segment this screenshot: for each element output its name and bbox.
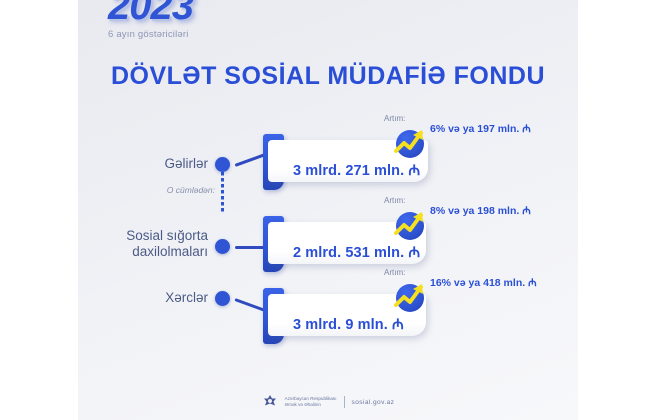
row-bullet-icon — [215, 157, 230, 172]
growth-caption: Artım: — [384, 196, 405, 205]
row-value: 3 mlrd. 271 mln. ₼ — [293, 160, 420, 180]
row-value: 2 mlrd. 531 mln. ₼ — [293, 242, 420, 262]
header-year-block: 2023 6 ayın göstəriciləri — [108, 0, 308, 40]
trending-up-icon — [392, 280, 426, 314]
infographic-panel: 2023 6 ayın göstəriciləri DÖVLƏT SOSİAL … — [78, 0, 578, 420]
azerbaijan-emblem-icon — [262, 394, 278, 410]
header-subtitle: 6 ayın göstəriciləri — [108, 29, 308, 40]
data-row: Sosial sığorta daxilolmaları 2 mlrd. 531… — [78, 200, 578, 270]
row-growth-value: 16% və ya 418 mln. ₼ — [430, 276, 537, 290]
page-title: DÖVLƏT SOSİAL MÜDAFİƏ FONDU — [78, 62, 578, 91]
row-label: Sosial sığorta daxilolmaları — [78, 228, 208, 259]
row-value: 3 mlrd. 9 mln. ₼ — [293, 314, 404, 334]
data-row: Xərclər 3 mlrd. 9 mln. ₼ Artım: 16% və y… — [78, 272, 578, 342]
trending-up-icon — [392, 126, 426, 160]
data-row: Gəlirlər 3 mlrd. 271 mln. ₼ Artım: 6% və… — [78, 118, 578, 188]
row-growth-value: 6% və ya 197 mln. ₼ — [430, 122, 531, 136]
footer-divider — [344, 396, 345, 408]
row-bullet-icon — [215, 291, 230, 306]
year-text: 2023 — [108, 0, 308, 26]
footer-org-name: Azərbaycan Respublikası Əmək və Əhalinin — [285, 396, 337, 408]
growth-caption: Artım: — [384, 268, 405, 277]
row-growth-value: 8% və ya 198 mln. ₼ — [430, 204, 531, 218]
footer-website: sosial.gov.az — [352, 399, 395, 406]
growth-caption: Artım: — [384, 114, 405, 123]
infographic-poster: 2023 6 ayın göstəriciləri DÖVLƏT SOSİAL … — [0, 0, 670, 420]
row-label: Xərclər — [78, 290, 208, 306]
footer: Azərbaycan Respublikası Əmək və Əhalinin… — [78, 394, 578, 410]
row-bullet-icon — [215, 239, 230, 254]
row-label: Gəlirlər — [78, 156, 208, 172]
trending-up-icon — [392, 208, 426, 242]
